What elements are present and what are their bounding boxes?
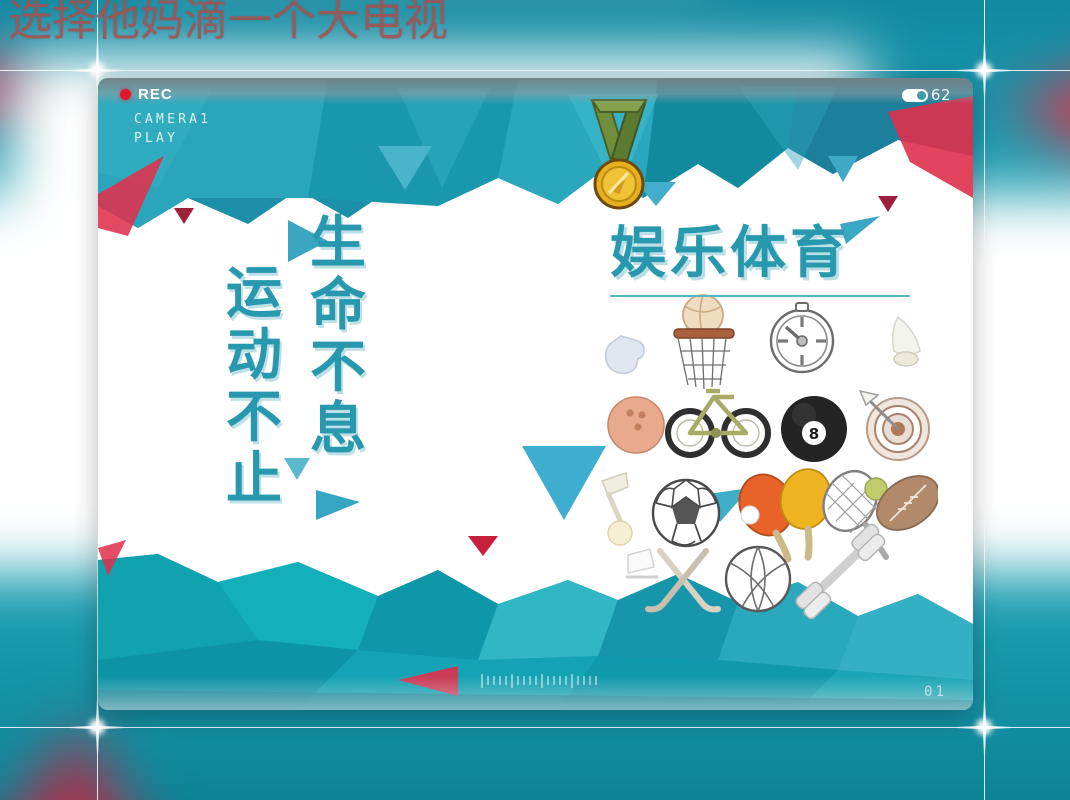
camera-play-label: PLAY: [134, 129, 211, 148]
grid-line-horizontal-top: [0, 70, 1070, 71]
rec-label: REC: [138, 86, 173, 103]
bicycle-icon: [668, 391, 768, 455]
section-heading: 娱乐体育: [610, 208, 930, 297]
camera-channel-label: CAMERA1: [134, 110, 211, 129]
slogan-left-char-2: 不: [226, 387, 282, 449]
slogan-right-char-1: 命: [310, 275, 366, 337]
slogan-left-char-0: 运: [226, 263, 282, 325]
bowling-ball-icon: [608, 397, 664, 453]
battery-level: 62: [931, 86, 951, 104]
section-title: 娱乐体育: [610, 208, 930, 289]
screen: 选择他妈滴一个大电视: [0, 0, 1070, 800]
section-underline: [610, 295, 910, 297]
rec-indicator: REC: [120, 86, 173, 103]
svg-text:8: 8: [809, 425, 819, 443]
timeline-ruler: [480, 672, 600, 692]
camera-status-bar: [98, 78, 973, 104]
slogan-left-char-3: 止: [226, 449, 282, 511]
sports-icons-svg: 8: [598, 293, 938, 623]
slogan-right-char-0: 生: [310, 213, 366, 275]
slogan-left-char-1: 动: [226, 325, 282, 387]
boxing-glove-icon: [606, 336, 644, 373]
slogan-right-char-3: 息: [310, 399, 366, 461]
slogan-right-char-2: 不: [310, 337, 366, 399]
basketball-hoop-icon: [674, 295, 734, 389]
soccer-ball-icon: [653, 480, 719, 546]
battery-icon: [902, 89, 928, 102]
stopwatch-icon: [771, 303, 833, 372]
table-tennis-paddles-icon: [731, 464, 837, 559]
volleyball-icon: [726, 547, 790, 611]
camera-mode-lines: CAMERA1 PLAY: [134, 110, 211, 148]
dartboard-icon: [860, 391, 929, 460]
hockey-sticks-icon: [648, 551, 718, 609]
poster-card[interactable]: REC CAMERA1 PLAY 62 生 命 不 息 运 动 不 止: [98, 78, 973, 710]
ice-skate-icon: [626, 549, 658, 577]
grid-line-vertical-right: [984, 0, 985, 800]
slogan-left-column: 运 动 不 止: [226, 263, 282, 511]
page-number: 01: [924, 684, 947, 700]
grid-line-horizontal-bottom: [0, 727, 1070, 728]
slogan-right-column: 生 命 不 息: [310, 213, 366, 461]
badminton-shuttlecock-icon: [893, 317, 920, 366]
billiard-8-ball-icon: 8: [781, 396, 847, 462]
battery-indicator: 62: [902, 86, 951, 104]
watermark-title: 选择他妈滴一个大电视: [8, 0, 448, 44]
golf-club-icon: [602, 473, 632, 545]
rec-dot-icon: [120, 89, 131, 100]
gold-medal-icon: [576, 96, 662, 216]
sports-icon-collage: 8: [598, 293, 938, 623]
